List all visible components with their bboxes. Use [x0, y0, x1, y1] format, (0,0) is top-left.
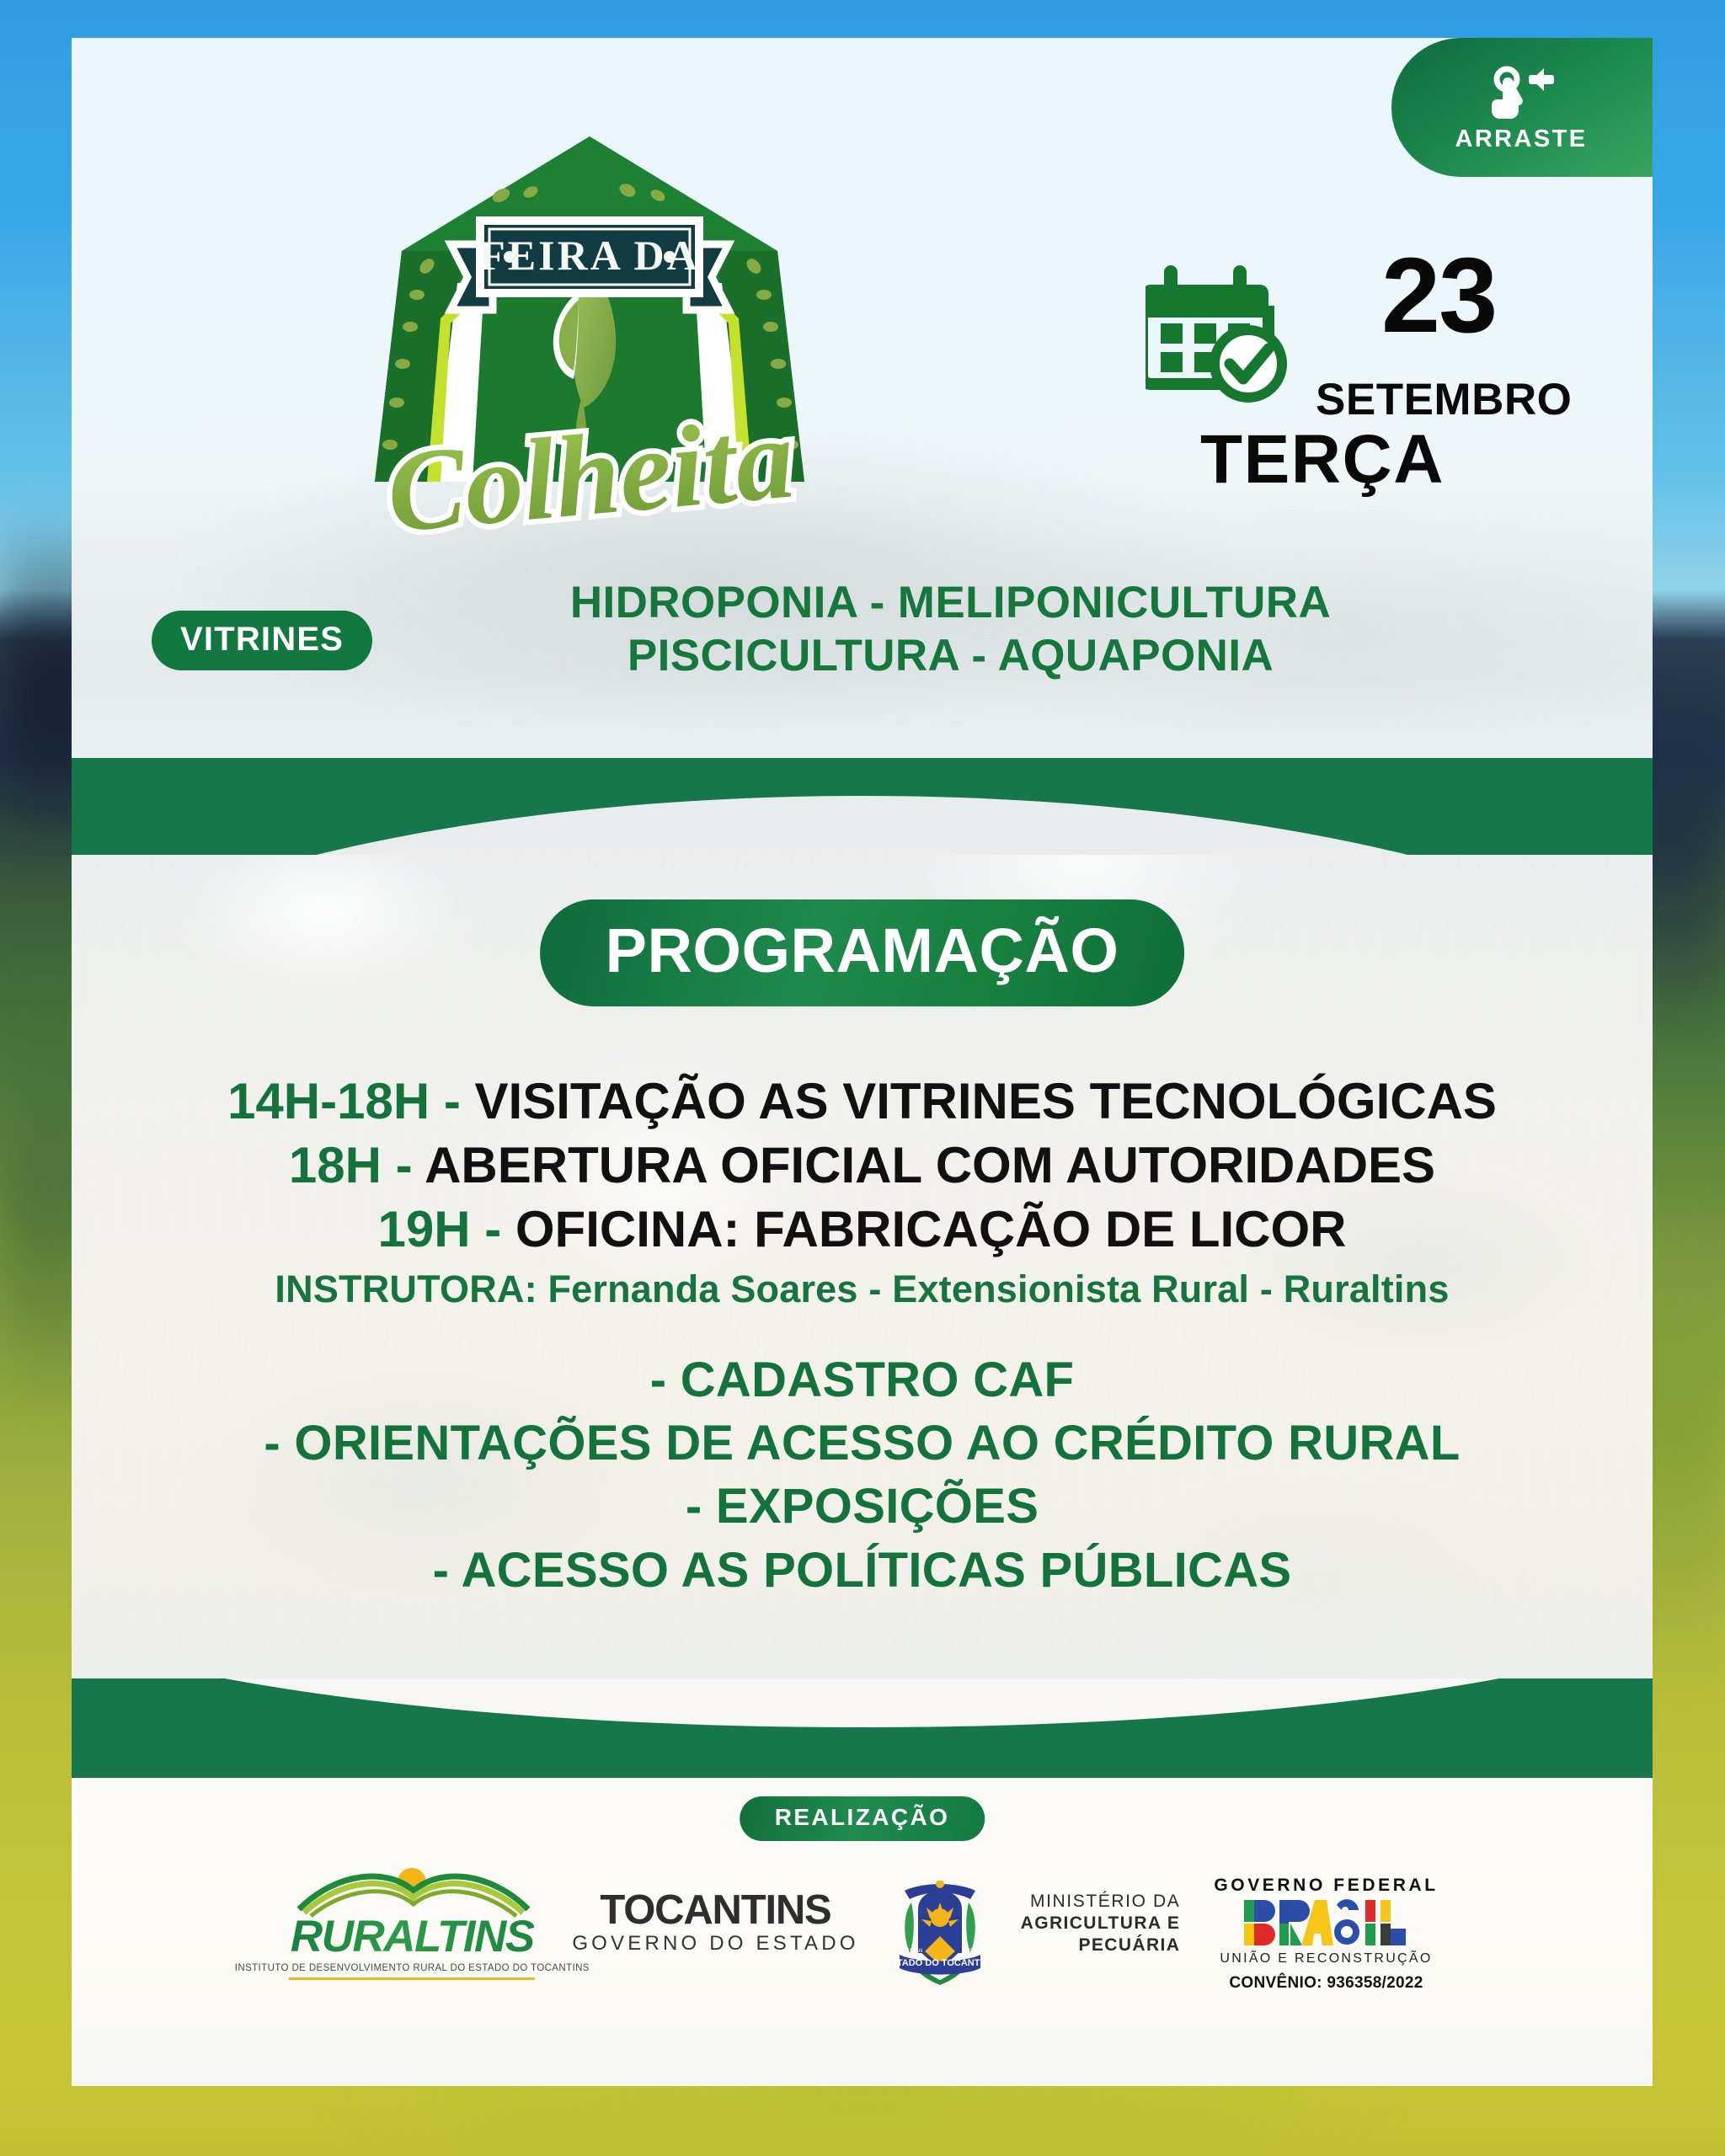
ruraltins-logo: RURALTINS INSTITUTO DE DESENVOLVIMENTO R…: [286, 1865, 538, 1980]
governo-federal-label: GOVERNO FEDERAL: [1214, 1876, 1438, 1896]
instructor-line: INSTRUTORA: Fernanda Soares - Extensioni…: [72, 1267, 1653, 1311]
schedule-description: ABERTURA OFICIAL COM AUTORIDADES: [425, 1137, 1435, 1193]
partner-logos: RURALTINS INSTITUTO DE DESENVOLVIMENTO R…: [72, 1865, 1653, 1993]
ministry-line-3: PECUÁRIA: [1021, 1935, 1181, 1956]
logo-banner-text: FEIRA DA: [479, 232, 700, 279]
schedule-time: 18H: [289, 1137, 382, 1193]
vitrines-badge: VITRINES: [152, 611, 372, 670]
schedule-separator: -: [430, 1073, 474, 1129]
bullet-item: - CADASTRO CAF: [72, 1348, 1653, 1412]
bullet-item: - EXPOSIÇÕES: [72, 1475, 1653, 1538]
ruraltins-underline: [289, 1977, 535, 1980]
bullet-item: - ACESSO AS POLÍTICAS PÚBLICAS: [72, 1539, 1653, 1602]
ruraltins-wordmark: RURALTINS: [291, 1914, 534, 1959]
swipe-badge[interactable]: ARRASTE: [1391, 38, 1653, 177]
swipe-left-hand-icon: [1485, 61, 1557, 122]
calendar-check-icon: [1146, 261, 1297, 408]
ministry-of-agriculture-logo: MINISTÉRIO DA AGRICULTURA E PECUÁRIA: [1021, 1891, 1181, 1956]
schedule-separator: -: [382, 1137, 425, 1193]
tocantins-government-logo: TOCANTINS GOVERNO DO ESTADO: [572, 1891, 858, 1956]
divider-top-curve: [72, 796, 1653, 855]
program-schedule: 14H-18H - VISITAÇÃO AS VITRINES TECNOLÓG…: [72, 1070, 1653, 1602]
schedule-row: 18H - ABERTURA OFICIAL COM AUTORIDADES: [72, 1134, 1653, 1198]
event-day: 23: [1381, 243, 1496, 349]
feira-da-colheita-logo: FEIRA DA Colheita: [350, 118, 830, 564]
program-title: PROGRAMAÇÃO: [540, 899, 1185, 1006]
tocantins-subtitle: GOVERNO DO ESTADO: [572, 1932, 858, 1956]
event-date: 23 SETEMBRO TERÇA: [1129, 253, 1600, 522]
schedule-description: VISITAÇÃO AS VITRINES TECNOLÓGICAS: [475, 1073, 1497, 1129]
vitrines-section: VITRINES HIDROPONIA - MELIPONICULTURA PI…: [72, 577, 1653, 682]
brasil-government-logo-icon: [1242, 1898, 1411, 1949]
program-bullets: - CADASTRO CAF - ORIENTAÇÕES DE ACESSO A…: [72, 1348, 1653, 1603]
ministry-line-2: AGRICULTURA E: [1021, 1913, 1181, 1935]
vitrines-line-2: PISCICULTURA - AQUAPONIA: [324, 630, 1577, 683]
vitrines-line-1: HIDROPONIA - MELIPONICULTURA: [324, 577, 1577, 630]
vitrines-list: HIDROPONIA - MELIPONICULTURA PISCICULTUR…: [324, 577, 1577, 682]
poster-card: ARRASTE: [72, 38, 1653, 2086]
event-weekday: TERÇA: [1200, 425, 1445, 494]
convenio-number: CONVÊNIO: 936358/2022: [1229, 1974, 1423, 1993]
tocantins-wordmark: TOCANTINS: [600, 1891, 830, 1930]
divider-top: [72, 758, 1653, 855]
svg-text:1º JAN: 1º JAN: [906, 1948, 922, 1954]
divider-bottom: [72, 1678, 1653, 1778]
federal-slogan: UNIÃO E RECONSTRUÇÃO: [1220, 1951, 1432, 1967]
ministry-line-1: MINISTÉRIO DA: [1021, 1891, 1181, 1913]
divider-bottom-curve: [72, 1678, 1653, 1727]
governo-federal-logo: GOVERNO FEDERAL: [1214, 1876, 1438, 1993]
schedule-description: OFICINA: FABRICAÇÃO DE LICOR: [515, 1201, 1347, 1257]
schedule-row: 14H-18H - VISITAÇÃO AS VITRINES TECNOLÓG…: [72, 1070, 1653, 1134]
arms-banner-text: ESTADO DO TOCANTINS: [893, 1958, 987, 1968]
schedule-row: 19H - OFICINA: FABRICAÇÃO DE LICOR: [72, 1198, 1653, 1262]
poster-canvas: ARRASTE: [0, 0, 1725, 2156]
schedule-separator: -: [471, 1201, 515, 1257]
schedule-time: 14H-18H: [227, 1073, 430, 1129]
bullet-item: - ORIENTAÇÕES DE ACESSO AO CRÉDITO RURAL: [72, 1412, 1653, 1475]
schedule-time: 19H: [377, 1201, 470, 1257]
realizacao-badge: REALIZAÇÃO: [740, 1796, 985, 1841]
swipe-badge-label: ARRASTE: [1455, 125, 1588, 153]
ruraltins-tagline: INSTITUTO DE DESENVOLVIMENTO RURAL DO ES…: [235, 1963, 590, 1973]
svg-text:1989: 1989: [961, 1949, 973, 1954]
sun-and-fields-icon: [286, 1865, 538, 1918]
tocantins-coat-of-arms-icon: ESTADO DO TOCANTINS 1º JAN 1989: [893, 1881, 987, 1988]
event-month: SETEMBRO: [1316, 377, 1572, 422]
